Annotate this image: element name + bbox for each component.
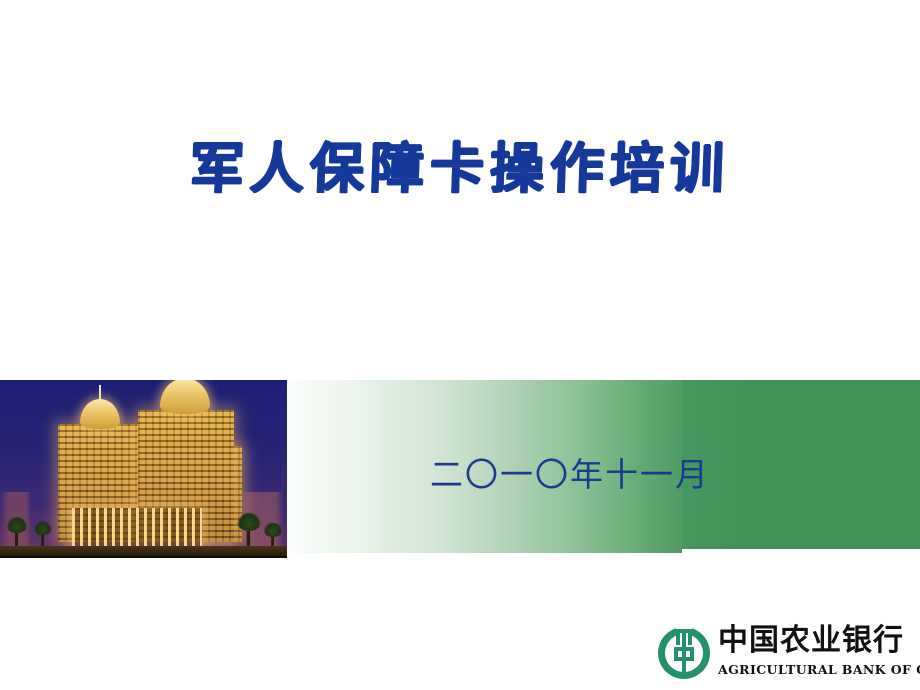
columns — [72, 508, 202, 548]
building-photo — [0, 380, 287, 558]
page-title: 军人保障卡操作培训 — [0, 139, 920, 199]
logo-chinese-name: 中国农业银行 — [718, 621, 906, 661]
slide-date-subtitle: 二〇一〇年十一月 — [380, 448, 760, 496]
logo-english-name: AGRICULTURAL BANK OF CHINA — [718, 662, 906, 678]
spire-left — [99, 385, 101, 401]
abc-bank-logo: 中国农业银行 AGRICULTURAL BANK OF CHINA — [654, 621, 906, 687]
palm-tree-icon — [236, 511, 261, 550]
presentation-slide: 军人保障卡操作培训 二〇一〇年十一月 — [0, 0, 920, 690]
logo-text-block: 中国农业银行 AGRICULTURAL BANK OF CHINA — [718, 621, 906, 678]
abc-emblem-icon — [654, 623, 714, 683]
foreground-ground — [0, 546, 287, 558]
dome-right — [160, 380, 210, 414]
palm-tree-icon — [6, 516, 28, 550]
podium-colonnade — [72, 508, 202, 548]
